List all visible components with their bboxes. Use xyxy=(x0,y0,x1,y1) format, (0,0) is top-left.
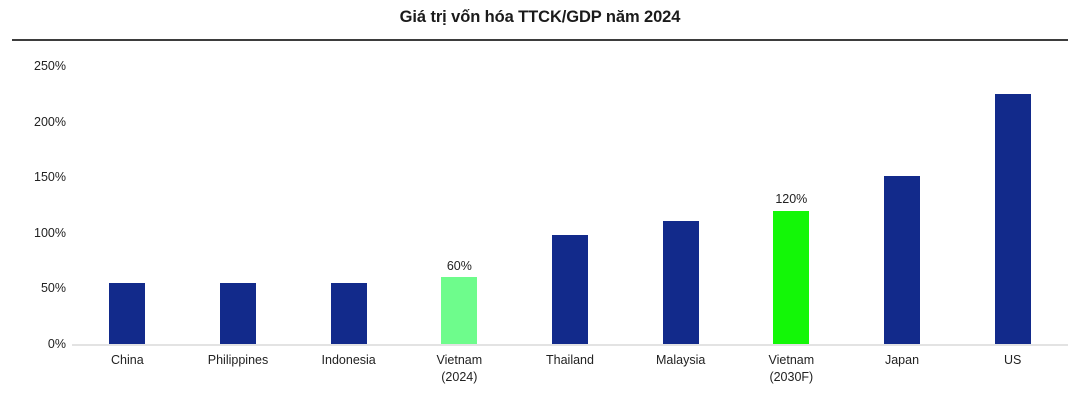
bar-group xyxy=(72,55,182,344)
bar-group xyxy=(183,55,293,344)
bar[interactable] xyxy=(773,211,809,344)
chart-container: Giá trị vốn hóa TTCK/GDP năm 2024 250%20… xyxy=(0,0,1080,404)
y-axis-tick-label: 200% xyxy=(6,115,66,129)
bar[interactable] xyxy=(995,94,1031,344)
bar[interactable] xyxy=(884,176,920,344)
x-axis-baseline xyxy=(72,344,1068,346)
bar-value-label: 120% xyxy=(775,193,807,206)
y-axis-tick-label: 150% xyxy=(6,170,66,184)
y-axis-tick-label: 50% xyxy=(6,281,66,295)
bar[interactable] xyxy=(109,283,145,344)
bar-value-label: 60% xyxy=(447,260,472,273)
bar-group xyxy=(515,55,625,344)
bar-group: 60% xyxy=(404,55,514,344)
bar-group xyxy=(626,55,736,344)
y-axis-tick-label: 250% xyxy=(6,59,66,73)
bar[interactable] xyxy=(552,235,588,344)
bar[interactable] xyxy=(663,221,699,344)
y-axis-tick-label: 100% xyxy=(6,226,66,240)
bar-group xyxy=(958,55,1068,344)
y-axis: 250%200%150%100%50%0% xyxy=(0,0,66,404)
bar[interactable] xyxy=(220,283,256,344)
bar-group xyxy=(294,55,404,344)
plot-area: 60%120% xyxy=(72,55,1068,344)
header-divider xyxy=(12,39,1068,41)
chart-title: Giá trị vốn hóa TTCK/GDP năm 2024 xyxy=(0,8,1080,27)
y-axis-tick-label: 0% xyxy=(6,337,66,351)
x-axis-tick-label: US xyxy=(938,352,1080,369)
bar[interactable] xyxy=(331,283,367,344)
bar-group: 120% xyxy=(736,55,846,344)
bar-group xyxy=(847,55,957,344)
bar[interactable] xyxy=(441,277,477,344)
